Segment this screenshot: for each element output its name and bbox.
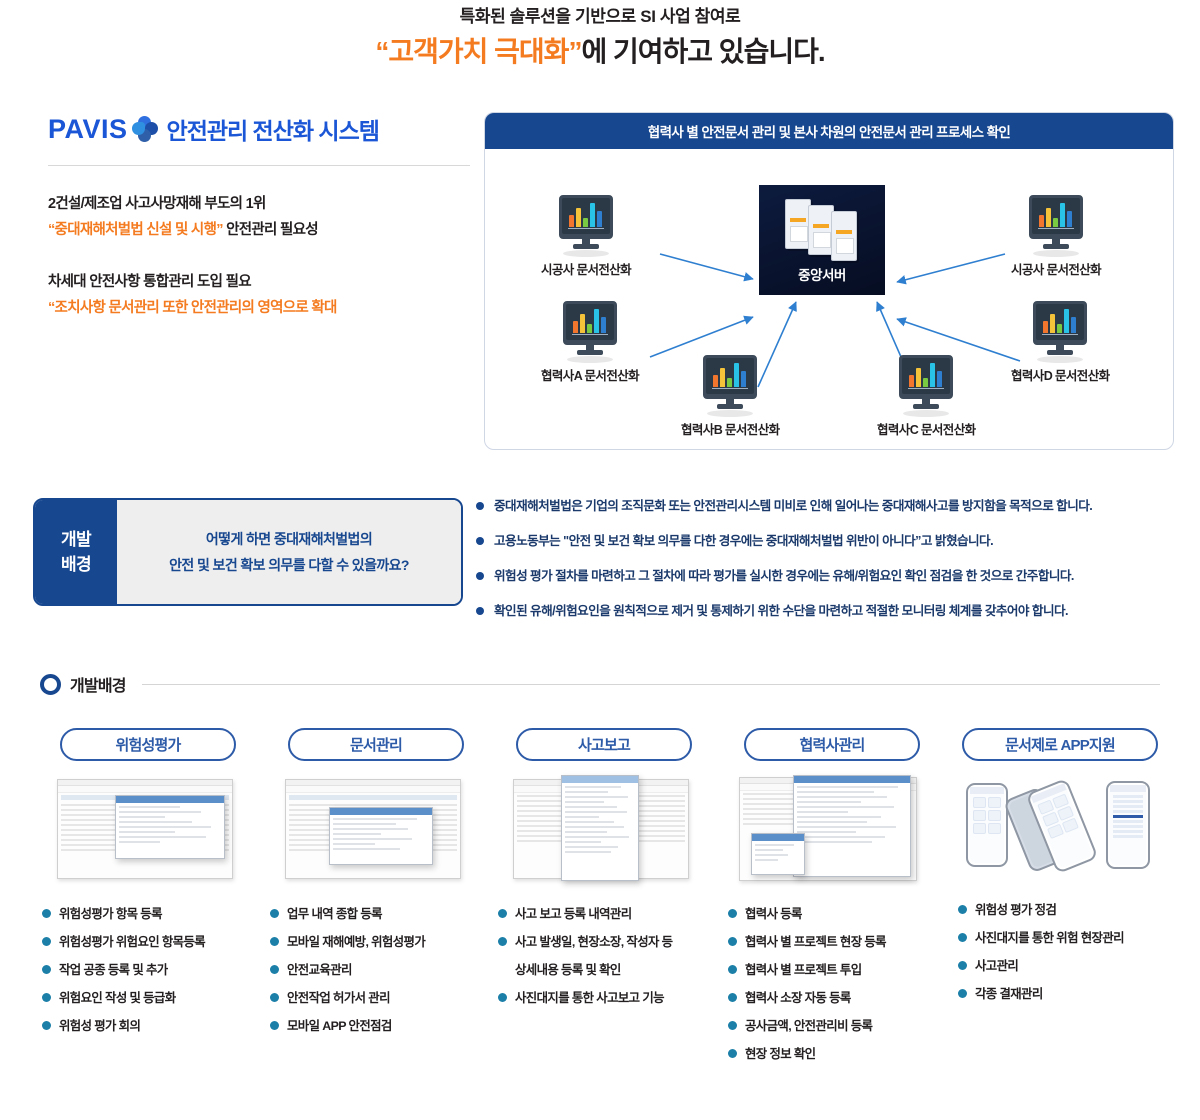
note-text: 확인된 유해/위험요인을 원칙적으로 제거 및 통제하기 위한 수단을 마련하고…: [494, 602, 1068, 620]
bullet-item: 위험성 평가 회의: [42, 1017, 256, 1036]
server-rack-icon: [759, 197, 885, 261]
bullet-dot-icon: [728, 1049, 737, 1058]
bullet-dot-icon: [476, 607, 484, 615]
bullet-text: 위험요인 작성 및 등급화: [59, 989, 176, 1008]
bullet-dot-icon: [728, 909, 737, 918]
card-screenshot-thumbnail: [281, 773, 471, 885]
central-server-label: 중앙서버: [798, 264, 846, 284]
diagram-node-mid-left: 협력사A 문서전산화: [541, 301, 639, 384]
node-label: 협력사B 문서전산화: [681, 419, 780, 438]
bullet-dot-icon: [42, 993, 51, 1002]
monitor-icon: [559, 301, 621, 361]
diagram-node-top-left: 시공사 문서전산화: [541, 195, 631, 278]
note-item: 중대재해처벌법은 기업의 조직문화 또는 안전관리시스템 미비로 인해 일어나는…: [476, 497, 1186, 515]
feature-cards: 위험성평가 위험성평가 항목 등록 위험성평가 위험요인 항목등록 작업 공종 …: [34, 728, 1174, 1073]
bullet-item: 안전교육관리: [270, 961, 474, 980]
bullet-text: 모바일 재해예방, 위험성평가: [287, 933, 425, 952]
bullet-text: 사진대지를 통한 위험 현장관리: [975, 929, 1124, 948]
card-bullet-list: 위험성평가 항목 등록 위험성평가 위험요인 항목등록 작업 공종 등록 및 추…: [42, 905, 256, 1036]
bullet-text: 협력사 별 프로젝트 현장 등록: [745, 933, 886, 952]
card-title-pill[interactable]: 문서제로 APP지원: [962, 728, 1158, 761]
bullet-item: 모바일 APP 안전점검: [270, 1017, 474, 1036]
pavis-flower-icon: [132, 116, 158, 142]
headline-rest: 에 기여하고 있습니다.: [581, 36, 824, 67]
card-title-pill[interactable]: 협력사관리: [744, 728, 920, 761]
bullet-item: 위험성평가 항목 등록: [42, 905, 256, 924]
bullet-item: 현장 정보 확인: [728, 1045, 932, 1064]
intro-line-2-plain: 안전관리 필요성: [223, 222, 318, 238]
bullet-item: 모바일 재해예방, 위험성평가: [270, 933, 474, 952]
bullet-dot-icon: [498, 993, 507, 1002]
bullet-text: 사고 발생일, 현장소장, 작성자 등: [515, 933, 672, 952]
question-line1: 어떻게 하면 중대재해처벌법의: [206, 526, 372, 552]
monitor-icon: [895, 355, 957, 415]
bullet-dot-icon: [728, 965, 737, 974]
section-header: 개발배경: [40, 672, 1160, 696]
circle-ring-icon: [40, 674, 61, 695]
phone-mockup-left: [966, 783, 1008, 867]
bullet-dot-icon: [498, 937, 507, 946]
bullet-text: 위험성평가 항목 등록: [59, 905, 162, 924]
diagram-node-bottom-right: 협력사C 문서전산화: [877, 355, 976, 438]
node-label: 협력사D 문서전산화: [1011, 365, 1110, 384]
feature-card-mobile-app: 문서제로 APP지원: [946, 728, 1174, 1073]
bullet-item: 사고 발생일, 현장소장, 작성자 등: [498, 933, 706, 952]
diagram-node-bottom-left: 협력사B 문서전산화: [681, 355, 780, 438]
bullet-text: 사고 보고 등록 내역관리: [515, 905, 632, 924]
bullet-item: 협력사 별 프로젝트 현장 등록: [728, 933, 932, 952]
bullet-text: 공사금액, 안전관리비 등록: [745, 1017, 872, 1036]
bullet-item: 공사금액, 안전관리비 등록: [728, 1017, 932, 1036]
headline-highlight: “고객가치 극대화”: [375, 36, 581, 67]
bullet-text: 사고관리: [975, 957, 1018, 976]
background-box-label: 개발 배경: [35, 500, 117, 604]
bullet-dot-icon: [728, 993, 737, 1002]
card-title-pill[interactable]: 사고보고: [516, 728, 692, 761]
process-diagram-panel: 협력사 별 안전문서 관리 및 본사 차원의 안전문서 관리 프로세스 확인: [484, 112, 1174, 450]
feature-card-partner-management: 협력사관리 협력사 등록 협력사 별 프로젝트 현장 등록 협력사 별: [718, 728, 946, 1073]
bullet-text: 모바일 APP 안전점검: [287, 1017, 392, 1036]
bullet-dot-icon: [270, 1021, 279, 1030]
development-background-box: 개발 배경 어떻게 하면 중대재해처벌법의 안전 및 보건 확보 의무를 다할 …: [33, 498, 463, 606]
bullet-item: 위험성 평가 정검: [958, 901, 1166, 920]
pavis-tagline: 안전관리 전산화 시스템: [167, 112, 379, 146]
intro-line-2: “중대재해처벌법 신설 및 시행” 안전관리 필요성: [48, 217, 468, 243]
bullet-dot-icon: [958, 933, 967, 942]
bullet-item: 안전작업 허가서 관리: [270, 989, 474, 1008]
diagram-body: 중앙서버 시공사 문서전산화: [485, 149, 1173, 449]
monitor-icon: [555, 195, 617, 255]
bullet-text: 협력사 등록: [745, 905, 802, 924]
bullet-item: 협력사 별 프로젝트 투입: [728, 961, 932, 980]
bullet-dot-icon: [42, 909, 51, 918]
bullet-text: 안전작업 허가서 관리: [287, 989, 390, 1008]
bullet-item: 작업 공종 등록 및 추가: [42, 961, 256, 980]
note-text: 중대재해처벌법은 기업의 조직문화 또는 안전관리시스템 미비로 인해 일어나는…: [494, 497, 1092, 515]
bullet-dot-icon: [476, 572, 484, 580]
intro-block: PAVIS 안전관리 전산화 시스템 2건설/제조업 사고사망재해 부도의 1위…: [48, 112, 468, 321]
note-item: 확인된 유해/위험요인을 원칙적으로 제거 및 통제하기 위한 수단을 마련하고…: [476, 602, 1186, 620]
bullet-dot-icon: [498, 909, 507, 918]
bullet-dot-icon: [270, 937, 279, 946]
bullet-item: 협력사 등록: [728, 905, 932, 924]
bullet-text: 사진대지를 통한 사고보고 기능: [515, 989, 664, 1008]
monitor-icon: [1029, 301, 1091, 361]
pavis-logo: PAVIS 안전관리 전산화 시스템: [48, 112, 468, 146]
bullet-text: 안전교육관리: [287, 961, 352, 980]
bullet-dot-icon: [728, 1021, 737, 1030]
intro-line-3: 차세대 안전사항 통합관리 도입 필요: [48, 269, 468, 295]
background-box-question: 어떻게 하면 중대재해처벌법의 안전 및 보건 확보 의무를 다할 수 있을까요…: [117, 500, 461, 604]
bullet-text: 협력사 별 프로젝트 투입: [745, 961, 862, 980]
bullet-dot-icon: [270, 909, 279, 918]
bullet-dot-icon: [270, 965, 279, 974]
card-screenshot-thumbnail: [53, 773, 243, 885]
note-text: 위험성 평가 절차를 마련하고 그 절차에 따라 평가를 실시한 경우에는 유해…: [494, 567, 1074, 585]
bullet-item: 사진대지를 통한 사고보고 기능: [498, 989, 706, 1008]
node-label: 시공사 문서전산화: [541, 259, 631, 278]
card-screenshot-thumbnail: [737, 773, 927, 885]
bullet-item: 사고관리: [958, 957, 1166, 976]
bullet-text: 협력사 소장 자동 등록: [745, 989, 851, 1008]
intro-line-1: 2건설/제조업 사고사망재해 부도의 1위: [48, 191, 468, 217]
bullet-item-continuation: 상세내용 등록 및 확인: [498, 961, 706, 980]
node-label: 협력사C 문서전산화: [877, 419, 976, 438]
card-screenshot-thumbnail: [509, 773, 699, 885]
bullet-item: 위험성평가 위험요인 항목등록: [42, 933, 256, 952]
diagram-node-mid-right: 협력사D 문서전산화: [1011, 301, 1110, 384]
notes-list: 중대재해처벌법은 기업의 조직문화 또는 안전관리시스템 미비로 인해 일어나는…: [476, 497, 1186, 637]
bullet-dot-icon: [476, 502, 484, 510]
bullet-item: 사고 보고 등록 내역관리: [498, 905, 706, 924]
feature-card-document-management: 문서관리 업무 내역 종합 등록 모바일 재해예방, 위험성평가 안전교육관리 …: [262, 728, 490, 1073]
bullet-dot-icon: [42, 1021, 51, 1030]
bullet-text: 작업 공종 등록 및 추가: [59, 961, 168, 980]
bullet-text: 업무 내역 종합 등록: [287, 905, 382, 924]
node-label: 협력사A 문서전산화: [541, 365, 639, 384]
bullet-spacer-icon: [498, 965, 507, 974]
card-bullet-list: 협력사 등록 협력사 별 프로젝트 현장 등록 협력사 별 프로젝트 투입 협력…: [728, 905, 932, 1064]
feature-card-accident-report: 사고보고 사고 보고 등록 내역관리 사고 발생일, 현장소장, 작성자 등 상…: [490, 728, 718, 1073]
bullet-dot-icon: [476, 537, 484, 545]
note-text: 고용노동부는 "안전 및 보건 확보 의무를 다한 경우에는 중대재해처벌법 위…: [494, 532, 993, 550]
bullet-text: 각종 결재관리: [975, 985, 1043, 1004]
bullet-dot-icon: [958, 989, 967, 998]
intro-line-4-accent: “조치사항 문서관리 또한 안전관리의 영역으로 확대: [48, 300, 337, 316]
bullet-dot-icon: [958, 905, 967, 914]
bullet-dot-icon: [728, 937, 737, 946]
card-bullet-list: 업무 내역 종합 등록 모바일 재해예방, 위험성평가 안전교육관리 안전작업 …: [270, 905, 474, 1036]
bullet-dot-icon: [42, 937, 51, 946]
pavis-wordmark: PAVIS: [48, 114, 128, 145]
card-title-pill[interactable]: 위험성평가: [60, 728, 236, 761]
bullet-text: 위험성 평가 회의: [59, 1017, 140, 1036]
bullet-text: 현장 정보 확인: [745, 1045, 815, 1064]
headline-title: “고객가치 극대화”에 기여하고 있습니다.: [0, 32, 1200, 72]
bullet-text: 상세내용 등록 및 확인: [515, 961, 621, 980]
card-bullet-list: 사고 보고 등록 내역관리 사고 발생일, 현장소장, 작성자 등 상세내용 등…: [498, 905, 706, 1008]
bullet-dot-icon: [958, 961, 967, 970]
bullet-text: 위험성 평가 정검: [975, 901, 1056, 920]
background-label-line1: 개발: [61, 527, 91, 552]
headline-subtitle: 특화된 솔루션을 기반으로 SI 사업 참여로: [0, 4, 1200, 30]
note-item: 위험성 평가 절차를 마련하고 그 절차에 따라 평가를 실시한 경우에는 유해…: [476, 567, 1186, 585]
bullet-item: 업무 내역 종합 등록: [270, 905, 474, 924]
feature-card-risk-assessment: 위험성평가 위험성평가 항목 등록 위험성평가 위험요인 항목등록 작업 공종 …: [34, 728, 262, 1073]
bullet-dot-icon: [270, 993, 279, 1002]
intro-divider: [48, 165, 470, 166]
monitor-icon: [699, 355, 761, 415]
diagram-node-top-right: 시공사 문서전산화: [1011, 195, 1101, 278]
card-bullet-list: 위험성 평가 정검 사진대지를 통한 위험 현장관리 사고관리 각종 결재관리: [958, 901, 1166, 1004]
intro-text: 2건설/제조업 사고사망재해 부도의 1위 “중대재해처벌법 신설 및 시행” …: [48, 191, 468, 321]
monitor-icon: [1025, 195, 1087, 255]
phone-mockup-right: [1106, 781, 1150, 869]
card-title-pill[interactable]: 문서관리: [288, 728, 464, 761]
section-divider: [142, 684, 1160, 685]
bullet-dot-icon: [42, 965, 51, 974]
note-item: 고용노동부는 "안전 및 보건 확보 의무를 다한 경우에는 중대재해처벌법 위…: [476, 532, 1186, 550]
bullet-text: 위험성평가 위험요인 항목등록: [59, 933, 205, 952]
intro-line-2-accent: “중대재해처벌법 신설 및 시행”: [48, 222, 223, 238]
node-label: 시공사 문서전산화: [1011, 259, 1101, 278]
bullet-item: 각종 결재관리: [958, 985, 1166, 1004]
bullet-item: 사진대지를 통한 위험 현장관리: [958, 929, 1166, 948]
card-phone-mockups: [960, 769, 1160, 881]
section-title: 개발배경: [70, 672, 126, 696]
intro-spacer: [48, 243, 468, 269]
intro-line-4: “조치사항 문서관리 또한 안전관리의 영역으로 확대: [48, 295, 468, 321]
central-server-node: 중앙서버: [759, 185, 885, 295]
diagram-title: 협력사 별 안전문서 관리 및 본사 차원의 안전문서 관리 프로세스 확인: [485, 113, 1173, 149]
background-label-line2: 배경: [61, 552, 91, 577]
question-line2: 안전 및 보건 확보 의무를 다할 수 있을까요?: [169, 552, 409, 578]
headline-block: 특화된 솔루션을 기반으로 SI 사업 참여로 “고객가치 극대화”에 기여하고…: [0, 0, 1200, 72]
bullet-item: 위험요인 작성 및 등급화: [42, 989, 256, 1008]
slide-root: 특화된 솔루션을 기반으로 SI 사업 참여로 “고객가치 극대화”에 기여하고…: [0, 0, 1200, 1120]
bullet-item: 협력사 소장 자동 등록: [728, 989, 932, 1008]
